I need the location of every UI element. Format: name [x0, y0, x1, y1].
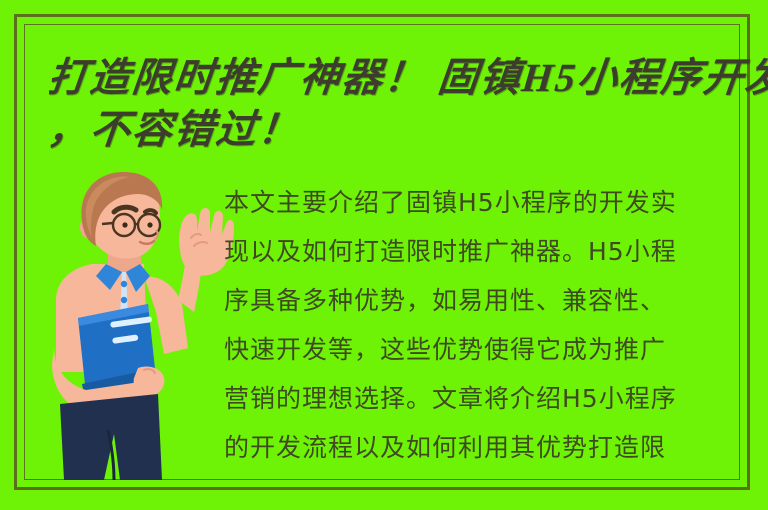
poster-canvas: 打造限时推广神器！ 固镇H5小程序开发 ，不容错过！ — [0, 0, 768, 510]
illustration-waving-man — [52, 172, 237, 482]
poster-title: 打造限时推广神器！ 固镇H5小程序开发 ，不容错过！ — [48, 52, 738, 156]
body-line-1: 本文主要介绍了固镇H5小程序的开发实 — [224, 178, 740, 227]
body-line-6: 的开发流程以及如何利用其优势打造限 — [224, 423, 740, 472]
title-line-2: ，不容错过！ — [45, 104, 740, 156]
body-line-3: 序具备多种优势，如易用性、兼容性、 — [224, 276, 740, 325]
body-line-5: 营销的理想选择。文章将介绍H5小程序 — [224, 374, 740, 423]
poster-body-text: 本文主要介绍了固镇H5小程序的开发实 现以及如何打造限时推广神器。H5小程 序具… — [224, 178, 740, 472]
body-line-2: 现以及如何打造限时推广神器。H5小程 — [224, 227, 740, 276]
body-line-4: 快速开发等，这些优势使得它成为推广 — [224, 325, 740, 374]
title-line-1: 打造限时推广神器！ 固镇H5小程序开发 — [45, 52, 740, 104]
